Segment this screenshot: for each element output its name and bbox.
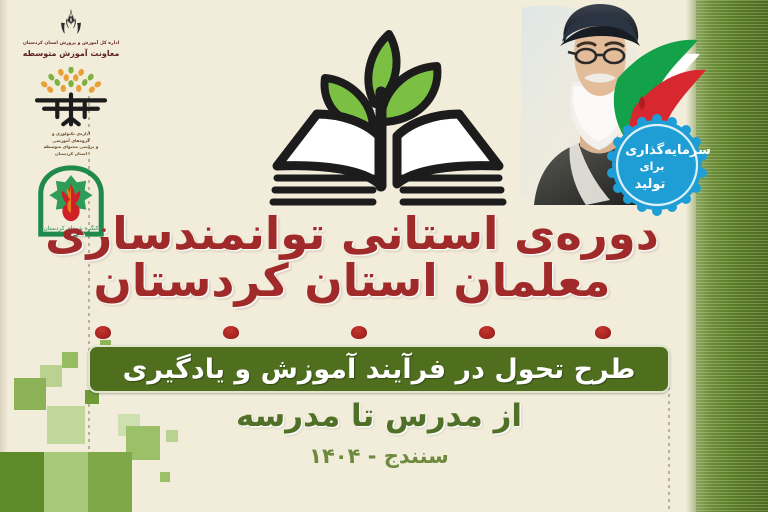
mosaic-square [62,352,78,368]
tulip-accent [479,326,495,339]
mosaic-square [44,452,88,496]
poster-title: دوره‌ی استانی توانمندسازی معلمان استان ک… [0,210,704,305]
tulip-accent [351,326,367,339]
title-line-1: دوره‌ی استانی توانمندسازی [0,210,704,259]
tech-groups-logo: اداره‌ی تکنولوژی و گروه‌های آموزشی و برر… [8,67,134,157]
mosaic-square [160,472,170,482]
mosaic-square [14,378,46,410]
tulip-accents [95,326,668,344]
book-wheat-icon [32,67,110,129]
mosaic-square [88,496,132,512]
tech-groups-caption: اداره‌ی تکنولوژی و گروه‌های آموزشی و برر… [8,131,134,157]
iran-emblem-icon [8,8,134,38]
date-location: سنندج - ۱۴۰۴ [88,444,670,468]
mosaic-square [44,496,88,512]
program-banner-label: طرح تحول در فرآیند آموزش و یادگیری [123,354,636,385]
seal-line-2: برای [640,160,665,173]
seal-line-1: سرمایه‌گذاری [625,142,710,158]
book-sprout-emblem [255,18,523,214]
program-banner: طرح تحول در فرآیند آموزش و یادگیری [88,345,670,393]
mosaic-square [0,452,44,496]
tulip-accent [95,326,111,339]
leader-block: سرمایه‌گذاری برای تولید [514,0,710,225]
ministry-caption-small: اداره کل آموزش و پرورش استان کردستان [8,41,134,48]
ministry-emblem-logo: اداره کل آموزش و پرورش استان کردستان معا… [8,8,134,58]
left-logo-stack: اداره کل آموزش و پرورش استان کردستان معا… [8,8,134,237]
mosaic-square [0,496,44,512]
poster-canvas: اداره کل آموزش و پرورش استان کردستان معا… [0,0,768,512]
date-location-label: سنندج - ۱۴۰۴ [309,444,449,468]
open-book-sprout-icon [255,18,523,214]
tulip-accent [223,326,239,339]
mosaic-square [47,406,85,444]
tulip-accent [595,326,611,339]
caption-line: استان کردستان [8,151,134,158]
seal-line-3: تولید [635,177,666,192]
poster-subtitle-label: از مدرس تا مدرسه [236,398,522,434]
poster-subtitle: از مدرس تا مدرسه [88,398,670,434]
ministry-caption-large: معاونت آموزش متوسطه [8,49,134,59]
title-line-2: معلمان استان کردستان [0,257,704,306]
